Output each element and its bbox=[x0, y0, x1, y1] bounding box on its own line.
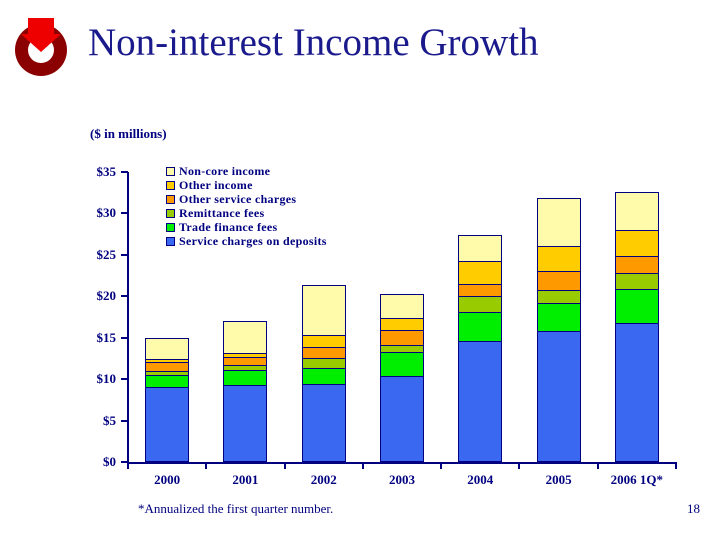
x-axis-tick-label: 2000 bbox=[128, 472, 206, 488]
legend-item[interactable]: Non-core income bbox=[166, 164, 396, 178]
y-axis-tick-mark bbox=[121, 337, 128, 339]
bar-segment[interactable] bbox=[380, 376, 424, 462]
legend-color-swatch bbox=[166, 195, 175, 204]
page-title: Non-interest Income Growth bbox=[88, 22, 539, 65]
bar-stack[interactable] bbox=[615, 172, 659, 462]
bar-segment[interactable] bbox=[302, 285, 346, 336]
x-axis-tick-mark bbox=[205, 462, 207, 469]
bar-segment[interactable] bbox=[380, 294, 424, 319]
units-caption: ($ in millions) bbox=[90, 126, 167, 142]
legend-item-label: Trade finance fees bbox=[179, 220, 278, 234]
bar-segment[interactable] bbox=[537, 331, 581, 462]
bar-segment[interactable] bbox=[458, 284, 502, 297]
bar-segment[interactable] bbox=[458, 296, 502, 313]
bar-segment[interactable] bbox=[615, 323, 659, 462]
legend-item-label: Remittance fees bbox=[179, 206, 264, 220]
legend-item[interactable]: Other income bbox=[166, 178, 396, 192]
legend-item-label: Other service charges bbox=[179, 192, 296, 206]
bar-segment[interactable] bbox=[223, 385, 267, 462]
x-axis-tick-label: 2006 1Q* bbox=[598, 472, 676, 488]
legend-color-swatch bbox=[166, 237, 175, 246]
bar-segment[interactable] bbox=[537, 246, 581, 273]
bar-segment[interactable] bbox=[380, 345, 424, 353]
x-axis-tick-mark bbox=[284, 462, 286, 469]
y-axis-tick-mark bbox=[121, 254, 128, 256]
x-axis-tick-mark bbox=[440, 462, 442, 469]
legend-color-swatch bbox=[166, 167, 175, 176]
bar-segment[interactable] bbox=[458, 341, 502, 462]
legend-color-swatch bbox=[166, 223, 175, 232]
bar-segment[interactable] bbox=[145, 362, 189, 371]
x-axis-tick-label: 2002 bbox=[285, 472, 363, 488]
x-axis-tick-mark bbox=[675, 462, 677, 469]
y-axis-tick-mark bbox=[121, 420, 128, 422]
bar-stack[interactable] bbox=[458, 172, 502, 462]
y-axis-tick-label: $20 bbox=[72, 288, 116, 304]
bar-segment[interactable] bbox=[537, 271, 581, 290]
bar-segment[interactable] bbox=[145, 338, 189, 361]
chart-legend: Non-core incomeOther incomeOther service… bbox=[166, 164, 396, 248]
y-axis-tick-label: $10 bbox=[72, 371, 116, 387]
y-axis-tick-label: $0 bbox=[72, 454, 116, 470]
legend-item-label: Non-core income bbox=[179, 164, 270, 178]
y-axis-tick-label: $35 bbox=[72, 164, 116, 180]
legend-color-swatch bbox=[166, 181, 175, 190]
legend-item-label: Other income bbox=[179, 178, 253, 192]
bar-segment[interactable] bbox=[615, 273, 659, 290]
legend-item[interactable]: Service charges on deposits bbox=[166, 234, 396, 248]
x-axis-tick-mark bbox=[362, 462, 364, 469]
bar-segment[interactable] bbox=[380, 330, 424, 346]
bar-segment[interactable] bbox=[380, 352, 424, 376]
legend-item[interactable]: Trade finance fees bbox=[166, 220, 396, 234]
bar-segment[interactable] bbox=[615, 192, 659, 231]
x-axis-tick-mark bbox=[597, 462, 599, 469]
x-axis-tick-mark bbox=[518, 462, 520, 469]
bar-segment[interactable] bbox=[302, 347, 346, 360]
bar-segment[interactable] bbox=[615, 256, 659, 274]
bar-segment[interactable] bbox=[615, 289, 659, 324]
x-axis-tick-mark bbox=[127, 462, 129, 469]
x-axis-line bbox=[127, 462, 677, 464]
y-axis-tick-mark bbox=[121, 212, 128, 214]
x-axis-tick-label: 2001 bbox=[206, 472, 284, 488]
bar-segment[interactable] bbox=[302, 368, 346, 385]
x-axis-tick-label: 2005 bbox=[519, 472, 597, 488]
company-logo bbox=[10, 12, 72, 84]
y-axis-tick-label: $5 bbox=[72, 413, 116, 429]
legend-item[interactable]: Remittance fees bbox=[166, 206, 396, 220]
bar-segment[interactable] bbox=[458, 235, 502, 262]
legend-item[interactable]: Other service charges bbox=[166, 192, 396, 206]
bar-segment[interactable] bbox=[537, 198, 581, 247]
bar-segment[interactable] bbox=[302, 335, 346, 348]
bar-segment[interactable] bbox=[458, 261, 502, 285]
bar-segment[interactable] bbox=[380, 318, 424, 331]
bar-segment[interactable] bbox=[302, 358, 346, 369]
y-axis-tick-label: $25 bbox=[72, 247, 116, 263]
bar-stack[interactable] bbox=[537, 172, 581, 462]
y-axis-tick-label: $15 bbox=[72, 330, 116, 346]
bar-segment[interactable] bbox=[223, 357, 267, 366]
bar-segment[interactable] bbox=[223, 321, 267, 354]
x-axis-tick-label: 2004 bbox=[441, 472, 519, 488]
y-axis-tick-label: $30 bbox=[72, 205, 116, 221]
legend-color-swatch bbox=[166, 209, 175, 218]
y-axis-tick-mark bbox=[121, 378, 128, 380]
bar-segment[interactable] bbox=[302, 384, 346, 462]
footnote: *Annualized the first quarter number. bbox=[138, 501, 333, 517]
bar-segment[interactable] bbox=[615, 230, 659, 257]
bar-segment[interactable] bbox=[145, 375, 189, 388]
bar-segment[interactable] bbox=[145, 387, 189, 462]
bar-segment[interactable] bbox=[458, 312, 502, 342]
bar-segment[interactable] bbox=[537, 303, 581, 332]
y-axis-tick-mark bbox=[121, 295, 128, 297]
x-axis-tick-label: 2003 bbox=[363, 472, 441, 488]
page-number: 18 bbox=[687, 501, 700, 517]
y-axis-tick-mark bbox=[121, 171, 128, 173]
bar-segment[interactable] bbox=[223, 370, 267, 386]
bar-segment[interactable] bbox=[537, 290, 581, 304]
legend-item-label: Service charges on deposits bbox=[179, 234, 327, 248]
